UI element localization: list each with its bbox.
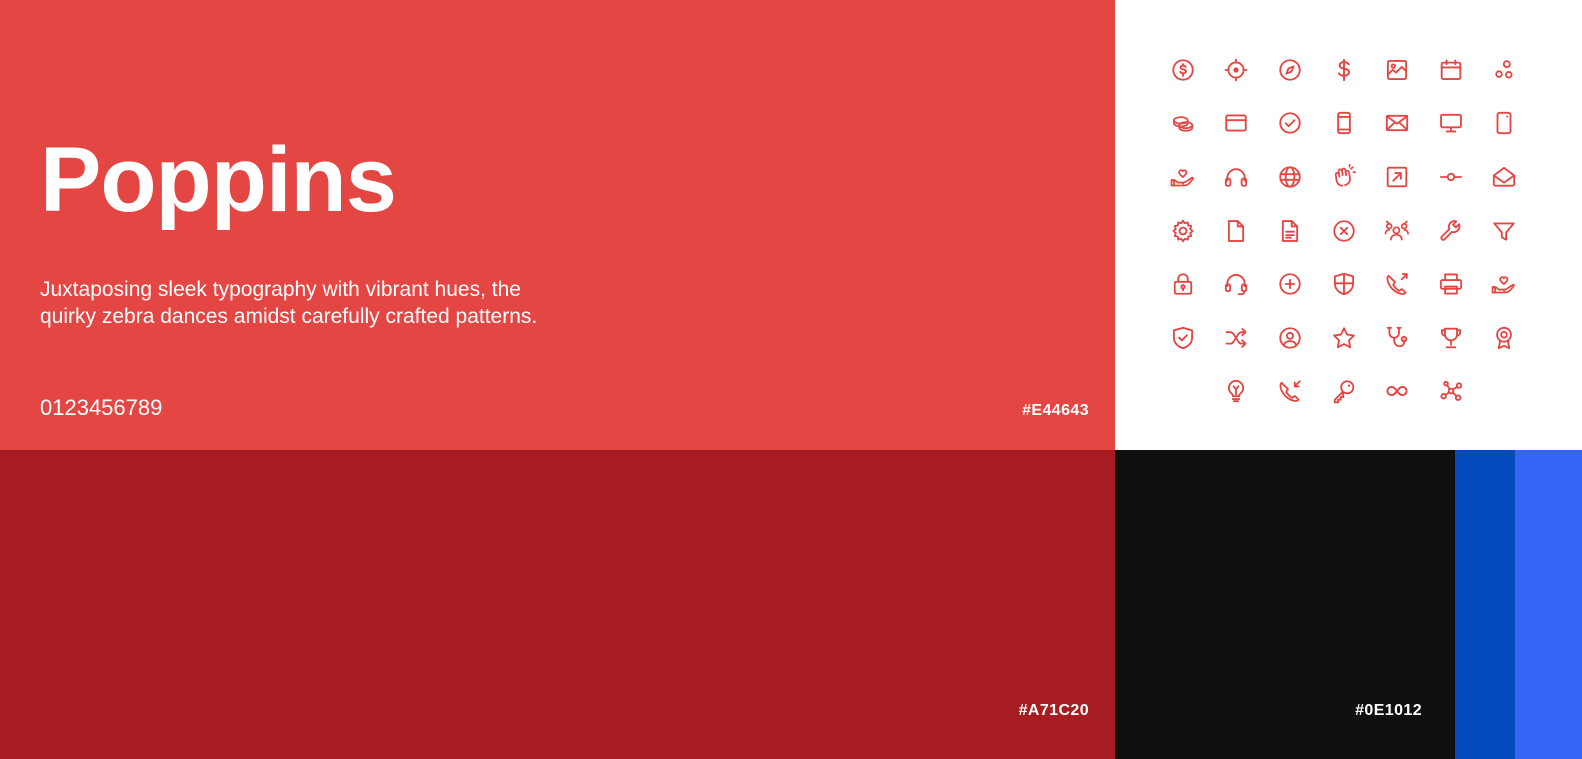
infinity-icon[interactable] xyxy=(1370,365,1424,419)
dark-red-color-panel: #A71C20 xyxy=(0,450,1115,759)
hex-label-near-black: #0E1012 xyxy=(1355,702,1422,720)
hex-label-primary-red: #E44643 xyxy=(1022,402,1089,420)
blue-light-color-band xyxy=(1515,450,1582,759)
open-envelope-icon[interactable] xyxy=(1478,150,1532,204)
x-circle-icon[interactable] xyxy=(1317,204,1371,258)
hand-heart-alt-icon[interactable] xyxy=(1478,257,1532,311)
network-nodes-icon[interactable] xyxy=(1424,365,1478,419)
gear-icon[interactable] xyxy=(1156,204,1210,258)
grid-spacer xyxy=(1156,365,1210,419)
users-group-icon[interactable] xyxy=(1370,204,1424,258)
headphones-icon[interactable] xyxy=(1210,150,1264,204)
envelope-icon[interactable] xyxy=(1370,97,1424,151)
lock-icon[interactable] xyxy=(1156,257,1210,311)
tablet-icon[interactable] xyxy=(1478,97,1532,151)
primary-color-panel: Poppins Juxtaposing sleek typography wit… xyxy=(0,0,1115,450)
shield-icon[interactable] xyxy=(1317,257,1371,311)
globe-icon[interactable] xyxy=(1263,150,1317,204)
compass-icon[interactable] xyxy=(1263,43,1317,97)
phone-incoming-icon[interactable] xyxy=(1263,365,1317,419)
key-icon[interactable] xyxy=(1317,365,1371,419)
specimen-paragraph: Juxtaposing sleek typography with vibran… xyxy=(40,276,540,330)
filter-icon[interactable] xyxy=(1478,204,1532,258)
browser-window-icon[interactable] xyxy=(1210,97,1264,151)
brand-style-board: Poppins Juxtaposing sleek typography wit… xyxy=(0,0,1582,759)
icon-grid xyxy=(1156,43,1531,418)
share-nodes-icon[interactable] xyxy=(1478,43,1532,97)
mobile-phone-icon[interactable] xyxy=(1317,97,1371,151)
phone-outgoing-icon[interactable] xyxy=(1370,257,1424,311)
external-link-icon[interactable] xyxy=(1370,150,1424,204)
user-circle-icon[interactable] xyxy=(1263,311,1317,365)
file-text-icon[interactable] xyxy=(1263,204,1317,258)
blue-dark-color-band xyxy=(1455,450,1515,759)
node-connector-icon[interactable] xyxy=(1424,150,1478,204)
page-title: Poppins xyxy=(40,134,396,226)
calendar-icon[interactable] xyxy=(1424,43,1478,97)
dollar-circle-icon[interactable] xyxy=(1156,43,1210,97)
grid-spacer xyxy=(1478,365,1532,419)
printer-icon[interactable] xyxy=(1424,257,1478,311)
trophy-icon[interactable] xyxy=(1424,311,1478,365)
near-black-color-panel: #0E1012 xyxy=(1115,450,1455,759)
coins-icon[interactable] xyxy=(1156,97,1210,151)
map-pin-icon[interactable] xyxy=(1370,43,1424,97)
check-circle-icon[interactable] xyxy=(1263,97,1317,151)
dollar-sign-icon[interactable] xyxy=(1317,43,1371,97)
specimen-numerals: 0123456789 xyxy=(40,394,162,422)
plus-circle-icon[interactable] xyxy=(1263,257,1317,311)
stethoscope-icon[interactable] xyxy=(1370,311,1424,365)
award-medal-icon[interactable] xyxy=(1478,311,1532,365)
hex-label-dark-red: #A71C20 xyxy=(1019,702,1089,720)
icon-sheet-panel xyxy=(1115,0,1582,450)
shuffle-icon[interactable] xyxy=(1210,311,1264,365)
file-blank-icon[interactable] xyxy=(1210,204,1264,258)
hand-heart-icon[interactable] xyxy=(1156,150,1210,204)
star-icon[interactable] xyxy=(1317,311,1371,365)
monitor-icon[interactable] xyxy=(1424,97,1478,151)
headset-icon[interactable] xyxy=(1210,257,1264,311)
lightbulb-icon[interactable] xyxy=(1210,365,1264,419)
shield-check-icon[interactable] xyxy=(1156,311,1210,365)
target-icon[interactable] xyxy=(1210,43,1264,97)
waving-hand-icon[interactable] xyxy=(1317,150,1371,204)
wrench-icon[interactable] xyxy=(1424,204,1478,258)
